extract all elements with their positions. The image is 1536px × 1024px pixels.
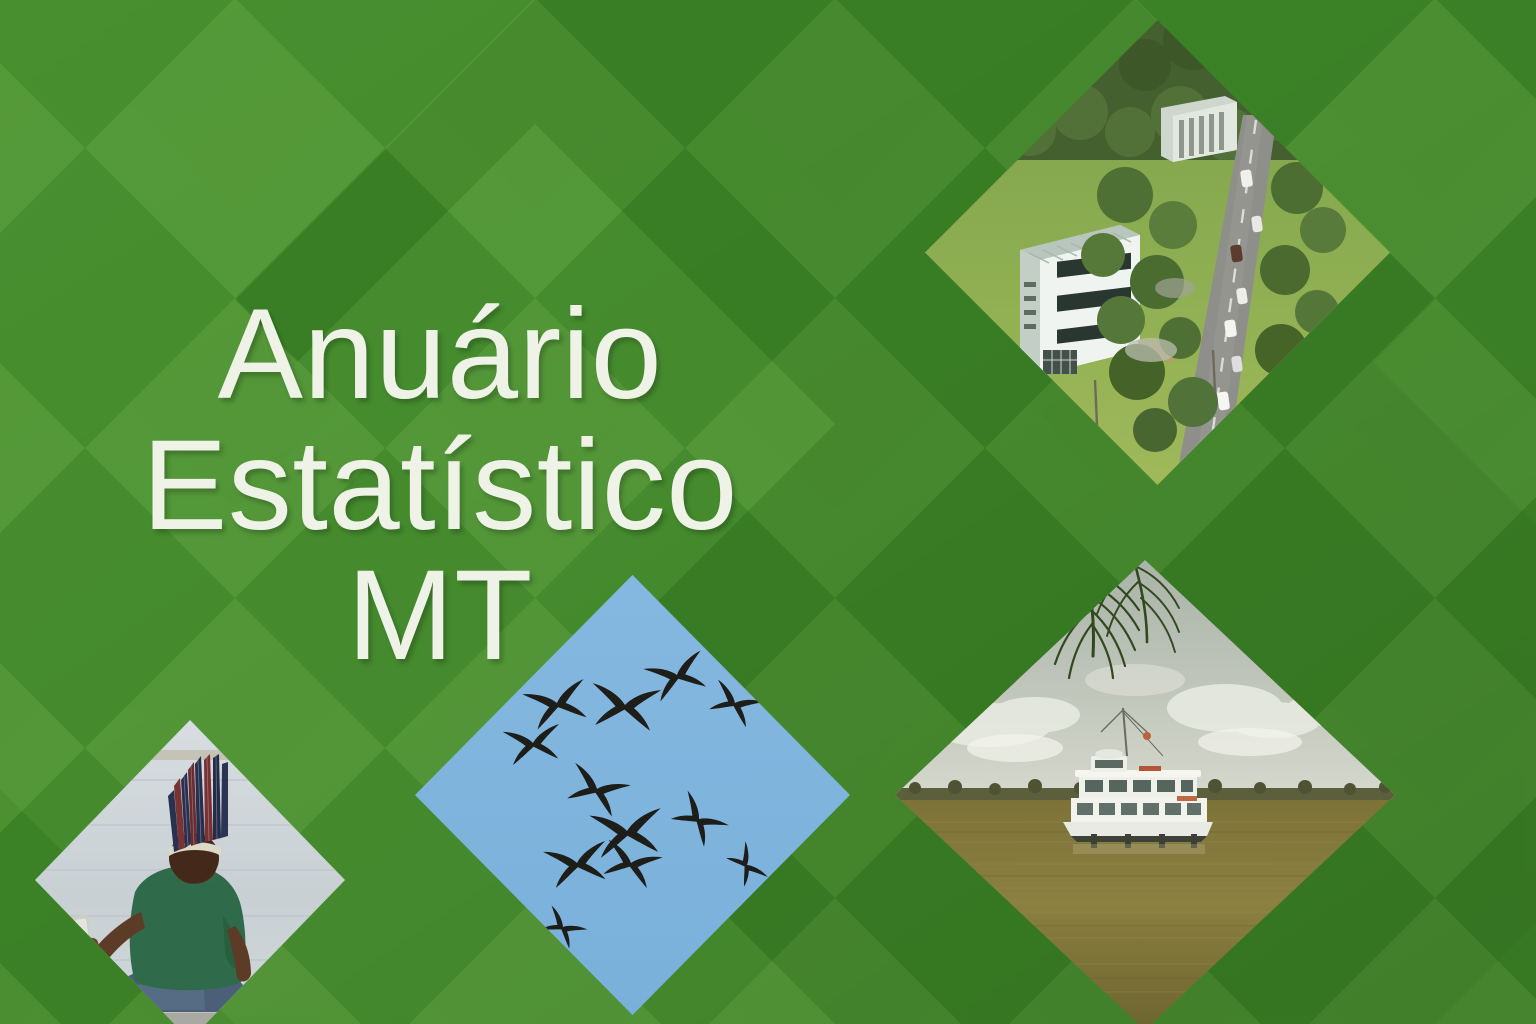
cover-page: Anuário Estatístico MT	[0, 0, 1536, 1024]
